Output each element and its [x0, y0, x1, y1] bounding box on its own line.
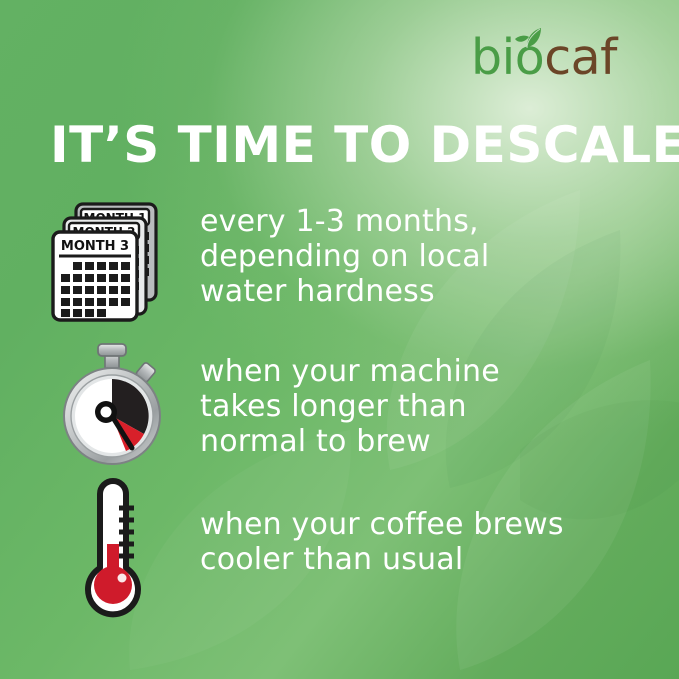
brand-logo: biocaf — [471, 30, 641, 92]
calendar-stack-icon: MONTH 1 MONTH 2 — [48, 196, 178, 326]
benefit-text-calendar: every 1-3 months, depending on local wat… — [200, 204, 489, 309]
brand-wordmark: biocaf — [471, 30, 617, 86]
benefit-text-thermometer: when your coffee brews cooler than usual — [200, 507, 564, 577]
poster-canvas: biocaf IT’S TIME TO DESCALE MONTH 1 — [0, 0, 679, 679]
thermometer-icon — [48, 472, 178, 620]
leaf-icon — [513, 27, 543, 49]
page-title: IT’S TIME TO DESCALE — [50, 116, 650, 174]
benefit-row-thermometer: when your coffee brews cooler than usual — [48, 472, 564, 620]
stopwatch-icon — [48, 342, 178, 472]
benefit-text-stopwatch: when your machine takes longer than norm… — [200, 354, 500, 459]
benefit-row-calendar: MONTH 1 MONTH 2 — [48, 196, 489, 326]
benefit-row-stopwatch: when your machine takes longer than norm… — [48, 342, 500, 472]
svg-text:MONTH 3: MONTH 3 — [61, 239, 129, 254]
brand-wordmark-caf: caf — [544, 29, 617, 86]
